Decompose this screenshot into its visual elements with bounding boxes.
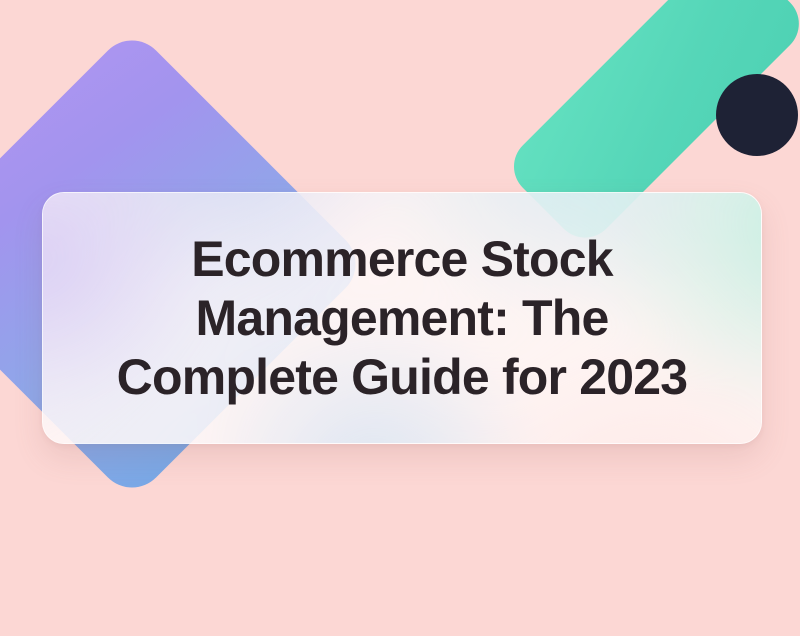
hero-title-card: Ecommerce Stock Management: The Complete… [42,192,762,444]
navy-circle-shape [716,74,798,156]
hero-canvas: Ecommerce Stock Management: The Complete… [0,0,800,636]
hero-card-content: Ecommerce Stock Management: The Complete… [43,193,761,443]
page-title: Ecommerce Stock Management: The Complete… [102,230,702,407]
